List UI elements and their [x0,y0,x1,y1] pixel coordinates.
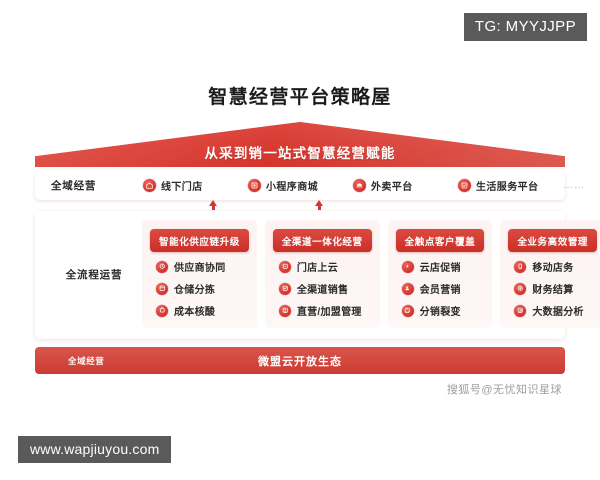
member-icon [402,283,414,295]
warehouse-icon [156,283,168,295]
store-icon [143,179,156,192]
base-bar-left-label: 全域经营 [68,355,104,367]
pillar-item-label: 全渠道销售 [297,281,349,296]
pillar-item-member-marketing[interactable]: 会员营销 [402,281,485,296]
pillar-item-store-to-cloud[interactable]: 门店上云 [279,259,372,274]
base-bar-center-label: 微盟云开放生态 [35,353,565,369]
pillar-item-label: 直营/加盟管理 [297,303,362,318]
pillar-item-franchise-management[interactable]: 直营/加盟管理 [279,303,372,318]
pillar-item-list: 云店促销 会员营销 分销裂变 [396,259,485,318]
pillar-column-supply-chain: 智能化供应链升级 供应商协同 仓储分拣 [142,220,257,328]
pillar-item-label: 会员营销 [420,281,461,296]
pillar-column-omnichannel: 全渠道一体化经营 门店上云 全渠道销售 [265,220,380,328]
cloud-store-icon [279,261,291,273]
pillar-item-label: 门店上云 [297,259,338,274]
pillar-item-cloud-store-promotion[interactable]: 云店促销 [402,259,485,274]
house-roof: 从采到销一站式智慧经营赋能 [35,122,565,167]
pillar-header: 智能化供应链升级 [150,229,249,252]
pillar-item-label: 仓储分拣 [174,281,215,296]
channel-item-takeout-platform[interactable]: 外卖平台 [353,178,458,193]
channel-item-mini-program-mall[interactable]: 小程序商城 [248,178,353,193]
tg-watermark-tag: TG: MYYJJPP [464,13,587,41]
channel-item-life-service-platform[interactable]: 生活服务平台 [458,178,563,193]
page-title: 智慧经营平台策略屋 [0,82,600,109]
pillar-column-customer-coverage: 全触点客户覆盖 云店促销 会员营销 [388,220,493,328]
channel-item-label: 小程序商城 [266,178,318,193]
channel-item-offline-store[interactable]: 线下门店 [143,178,248,193]
life-service-icon [458,179,471,192]
sohu-watermark: 搜狐号@无忧知识星球 [447,381,562,397]
channel-item-label: 线下门店 [161,178,203,193]
base-bar: 全域经营 微盟云开放生态 [35,347,565,374]
pillar-item-label: 成本核酸 [174,303,215,318]
pillar-item-supplier-collab[interactable]: 供应商协同 [156,259,249,274]
supplier-icon [156,261,168,273]
strategy-house-diagram: 从采到销一站式智慧经营赋能 全域经营 线下门店 小程序商城 外卖 [35,122,565,374]
channel-ellipsis: …… [563,180,585,191]
mini-program-icon [248,179,261,192]
pillar-item-label: 云店促销 [420,259,461,274]
pillar-item-label: 大数据分析 [532,303,584,318]
channel-item-label: 生活服务平台 [476,178,538,193]
roof-label: 从采到销一站式智慧经营赋能 [35,142,565,162]
pillar-item-list: 移动店务 财务结算 大数据分析 [508,259,597,318]
url-watermark: www.wapjiuyou.com [18,436,171,463]
promotion-icon [402,261,414,273]
body-panel-label: 全流程运营 [46,220,142,328]
analytics-icon [514,305,526,317]
pillar-item-label: 财务结算 [532,281,573,296]
finance-icon [514,283,526,295]
channel-bar: 全域经营 线下门店 小程序商城 外卖平台 [35,170,565,200]
pillar-item-label: 分销裂变 [420,303,461,318]
channel-item-label: 外卖平台 [371,178,413,193]
mobile-icon [514,261,526,273]
pillar-item-label: 供应商协同 [174,259,226,274]
channel-item-list: 线下门店 小程序商城 外卖平台 生活服务平台 [143,178,563,193]
pillar-item-financial-settlement[interactable]: 财务结算 [514,281,597,296]
pillar-item-list: 供应商协同 仓储分拣 成本核酸 [150,259,249,318]
pillar-columns: 智能化供应链升级 供应商协同 仓储分拣 [142,220,600,328]
franchise-icon [279,305,291,317]
upward-arrows [35,200,565,210]
pillar-item-list: 门店上云 全渠道销售 直营/加盟管理 [273,259,372,318]
channel-bar-label: 全域经营 [51,178,143,193]
pillar-column-business-management: 全业务高效管理 移动店务 财务结算 [500,220,600,328]
pillar-header: 全业务高效管理 [508,229,597,252]
pillar-item-mobile-store-ops[interactable]: 移动店务 [514,259,597,274]
pillar-header: 全渠道一体化经营 [273,229,372,252]
distribution-icon [402,305,414,317]
takeout-icon [353,179,366,192]
pillar-item-cost-accounting[interactable]: 成本核酸 [156,303,249,318]
cost-icon [156,305,168,317]
pillar-item-big-data-analysis[interactable]: 大数据分析 [514,303,597,318]
pillar-item-distribution-fission[interactable]: 分销裂变 [402,303,485,318]
pillar-item-warehouse-sorting[interactable]: 仓储分拣 [156,281,249,296]
omnichannel-icon [279,283,291,295]
pillar-item-omnichannel-sales[interactable]: 全渠道销售 [279,281,372,296]
body-panel: 全流程运营 智能化供应链升级 供应商协同 仓储分 [35,211,565,339]
pillar-item-label: 移动店务 [532,259,573,274]
pillar-header: 全触点客户覆盖 [396,229,485,252]
